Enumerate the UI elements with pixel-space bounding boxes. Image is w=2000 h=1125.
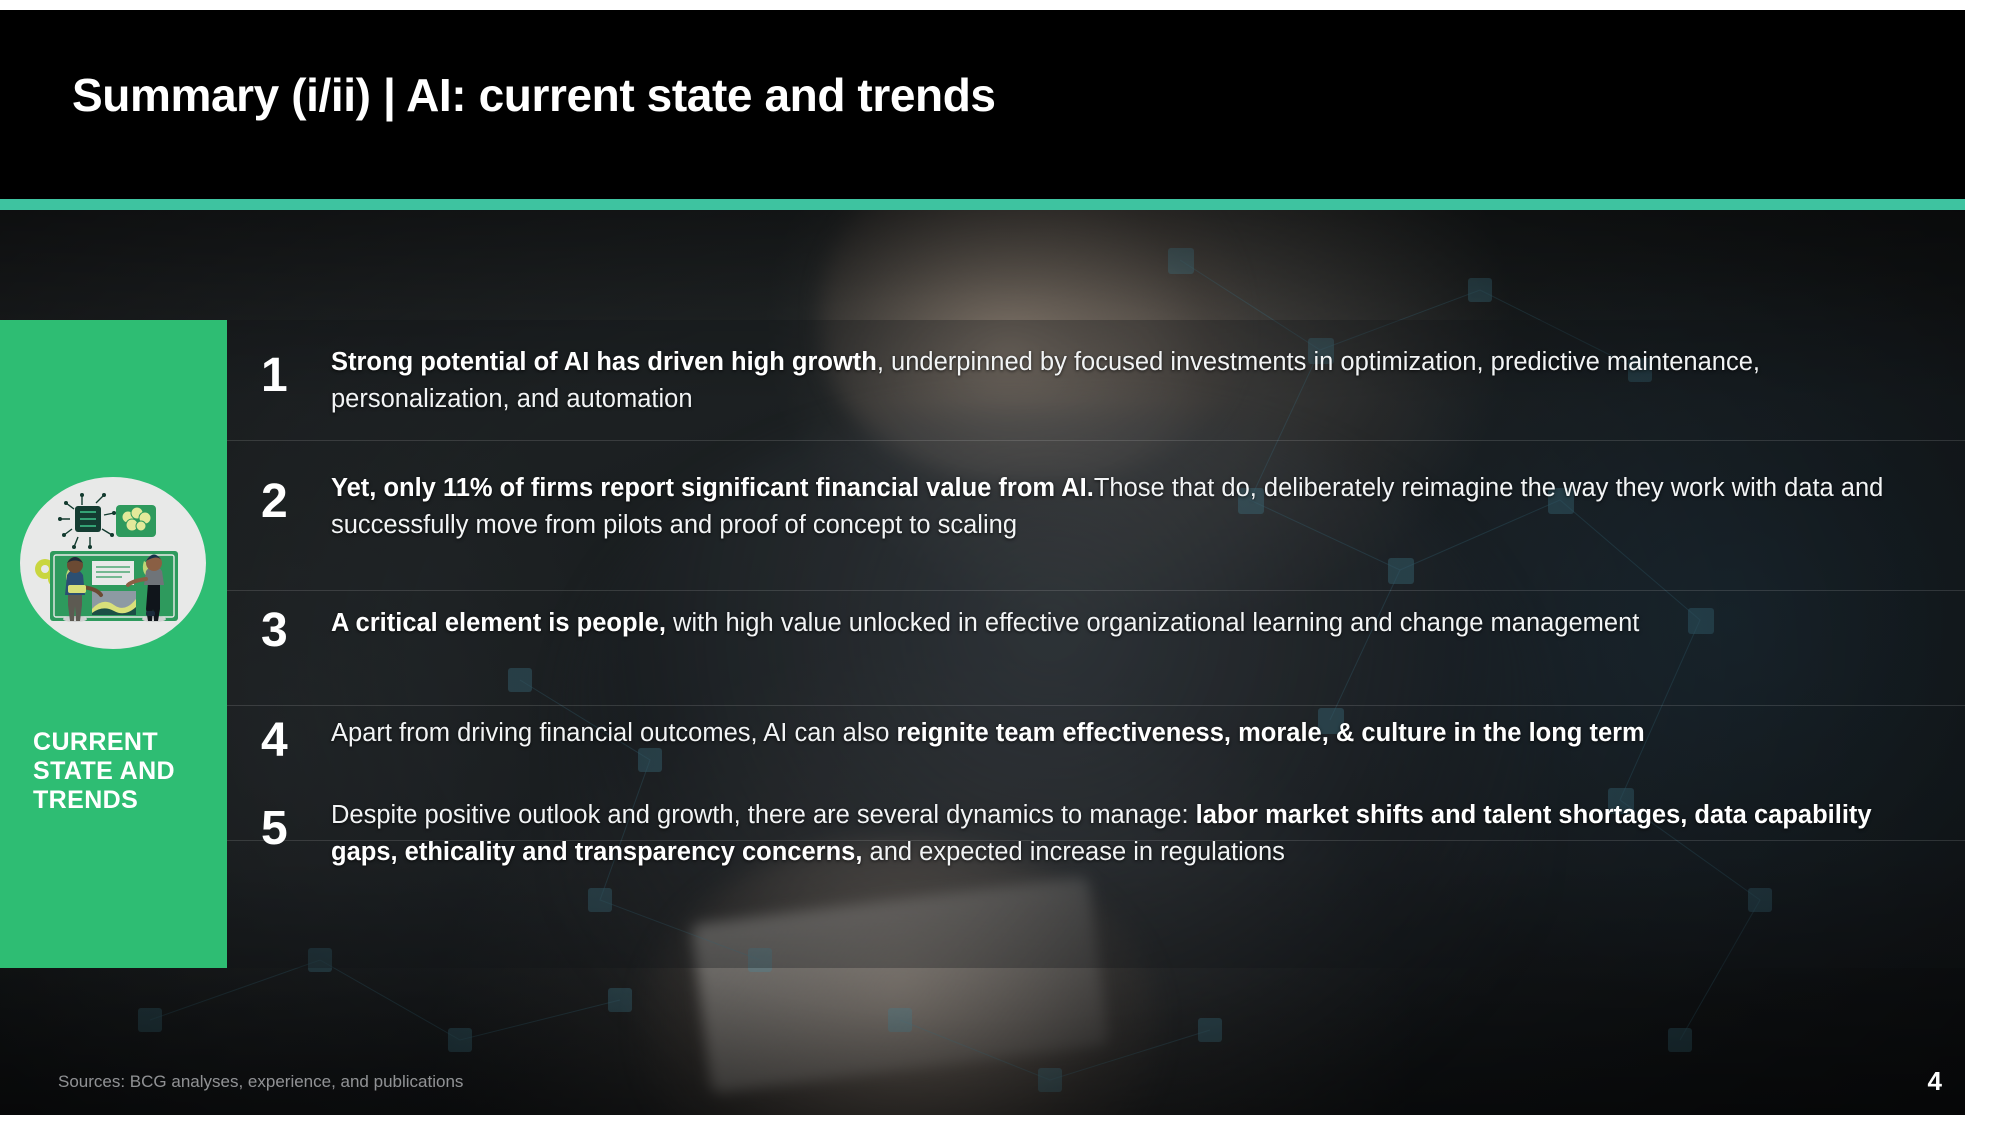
- item-number: 3: [227, 605, 331, 655]
- page-margin-bottom: [0, 1115, 2000, 1125]
- list-item: 2 Yet, only 11% of firms report signific…: [227, 470, 1965, 543]
- list-item: 3 A critical element is people, with hig…: [227, 605, 1965, 655]
- item-text: Despite positive outlook and growth, the…: [331, 797, 1965, 870]
- sources-note: Sources: BCG analyses, experience, and p…: [58, 1072, 463, 1092]
- list-item: 1 Strong potential of AI has driven high…: [227, 344, 1965, 417]
- list-item: 5 Despite positive outlook and growth, t…: [227, 797, 1965, 870]
- page-number: 4: [1928, 1066, 1942, 1097]
- sidebar-caption: Current state and trends: [33, 728, 213, 814]
- item-number: 5: [227, 797, 331, 853]
- slide-canvas: Summary (i/ii) | AI: current state and t…: [0, 0, 2000, 1125]
- sidebar-current-state-and-trends: Current state and trends: [0, 320, 227, 968]
- item-number: 2: [227, 470, 331, 526]
- item-text: Yet, only 11% of firms report significan…: [331, 470, 1965, 543]
- item-number: 1: [227, 344, 331, 400]
- page-title: Summary (i/ii) | AI: current state and t…: [72, 68, 996, 122]
- list-item: 4 Apart from driving financial outcomes,…: [227, 715, 1965, 765]
- summary-items-list: 1 Strong potential of AI has driven high…: [227, 320, 1965, 968]
- item-text: Apart from driving financial outcomes, A…: [331, 715, 1965, 752]
- item-number: 4: [227, 715, 331, 765]
- page-margin-right: [1965, 0, 2000, 1125]
- page-margin-top: [0, 0, 2000, 10]
- item-text: Strong potential of AI has driven high g…: [331, 344, 1965, 417]
- header-accent-rule: [0, 199, 1965, 210]
- ai-collaboration-illustration-icon: [18, 475, 208, 651]
- header-band: Summary (i/ii) | AI: current state and t…: [0, 10, 1965, 200]
- item-text: A critical element is people, with high …: [331, 605, 1965, 642]
